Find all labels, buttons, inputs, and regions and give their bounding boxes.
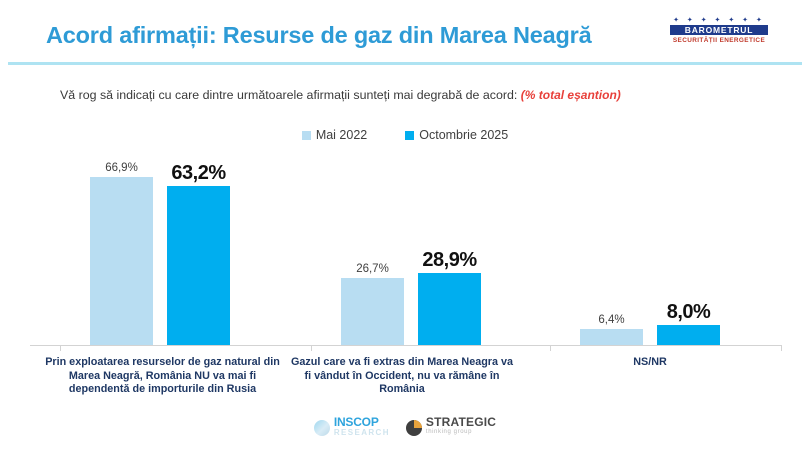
bar-wrap-prev-2[interactable]: 6,4%: [580, 150, 643, 345]
strategic-mark-icon: [406, 420, 422, 436]
category-label-2: NS/NR: [550, 356, 750, 370]
chart-axis-line: [30, 345, 782, 346]
bar-value-label: 8,0%: [667, 301, 711, 324]
bar-prev[interactable]: [341, 278, 404, 345]
legend-item-mai-2022[interactable]: Mai 2022: [302, 128, 367, 142]
question-scope: (% total eșantion): [521, 88, 621, 102]
legend-label: Mai 2022: [316, 128, 367, 142]
question-text: Vă rog să indicați cu care dintre următo…: [60, 88, 621, 102]
strategic-text: STRATEGIC thinking group: [426, 418, 496, 437]
chart-plot-area: 66,9% 63,2% 26,7% 28,9%: [30, 150, 782, 346]
bar-wrap-prev-1[interactable]: 26,7%: [341, 150, 404, 345]
bar-wrap-curr-0[interactable]: 63,2%: [167, 150, 230, 345]
legend-swatch-icon: [302, 131, 311, 140]
bar-value-label: 28,9%: [422, 249, 476, 272]
category-label-1: Gazul care va fi extras din Marea Neagra…: [288, 356, 516, 397]
logo-subtitle: SECURITĂȚII ENERGETICE: [670, 36, 768, 45]
bar-curr[interactable]: [418, 273, 481, 345]
inscop-mark-icon: [314, 420, 330, 436]
bar-value-label: 66,9%: [105, 162, 138, 174]
inscop-name: INSCOP: [334, 418, 390, 427]
footer-logos: INSCOP RESEARCH STRATEGIC thinking group: [0, 418, 810, 437]
bar-wrap-curr-1[interactable]: 28,9%: [418, 150, 481, 345]
barometrul-logo: ✦ ✦ ✦ ✦ ✦ ✦ ✦ BAROMETRUL SECURITĂȚII ENE…: [670, 17, 768, 49]
legend-item-octombrie-2025[interactable]: Octombrie 2025: [405, 128, 508, 142]
bar-prev[interactable]: [580, 329, 643, 345]
bar-wrap-curr-2[interactable]: 8,0%: [657, 150, 720, 345]
bar-value-label: 26,7%: [356, 263, 389, 275]
chart-legend: Mai 2022 Octombrie 2025: [0, 128, 810, 142]
bar-prev[interactable]: [90, 177, 153, 345]
slide-root: Acord afirmații: Resurse de gaz din Mare…: [0, 0, 810, 463]
bar-value-label: 63,2%: [171, 162, 225, 185]
header-divider: [8, 62, 802, 65]
axis-tick: [781, 345, 782, 351]
logo-word: BAROMETRUL: [670, 25, 768, 35]
strategic-name: STRATEGIC: [426, 418, 496, 427]
bar-group-2: 6,4% 8,0%: [550, 150, 750, 345]
slide-header: Acord afirmații: Resurse de gaz din Mare…: [0, 0, 810, 70]
bar-wrap-prev-0[interactable]: 66,9%: [90, 150, 153, 345]
inscop-subtitle: RESEARCH: [334, 428, 390, 437]
category-labels: Prin exploatarea resurselor de gaz natur…: [30, 356, 782, 414]
strategic-subtitle: thinking group: [426, 428, 496, 437]
inscop-logo: INSCOP RESEARCH: [314, 418, 390, 437]
bar-value-label: 6,4%: [598, 314, 624, 326]
bar-group-1: 26,7% 28,9%: [311, 150, 511, 345]
axis-tick: [550, 345, 551, 351]
bar-chart: 66,9% 63,2% 26,7% 28,9%: [30, 150, 782, 350]
bar-group-0: 66,9% 63,2%: [60, 150, 260, 345]
legend-swatch-icon: [405, 131, 414, 140]
strategic-logo: STRATEGIC thinking group: [406, 418, 496, 437]
inscop-text: INSCOP RESEARCH: [334, 418, 390, 437]
category-label-0: Prin exploatarea resurselor de gaz natur…: [40, 356, 285, 397]
logo-dots-icon: ✦ ✦ ✦ ✦ ✦ ✦ ✦: [670, 17, 768, 25]
axis-tick: [311, 345, 312, 351]
bar-curr[interactable]: [657, 325, 720, 345]
axis-tick: [60, 345, 61, 351]
bar-curr[interactable]: [167, 186, 230, 345]
question-main: Vă rog să indicați cu care dintre următo…: [60, 88, 521, 102]
page-title: Acord afirmații: Resurse de gaz din Mare…: [46, 22, 591, 49]
legend-label: Octombrie 2025: [419, 128, 508, 142]
